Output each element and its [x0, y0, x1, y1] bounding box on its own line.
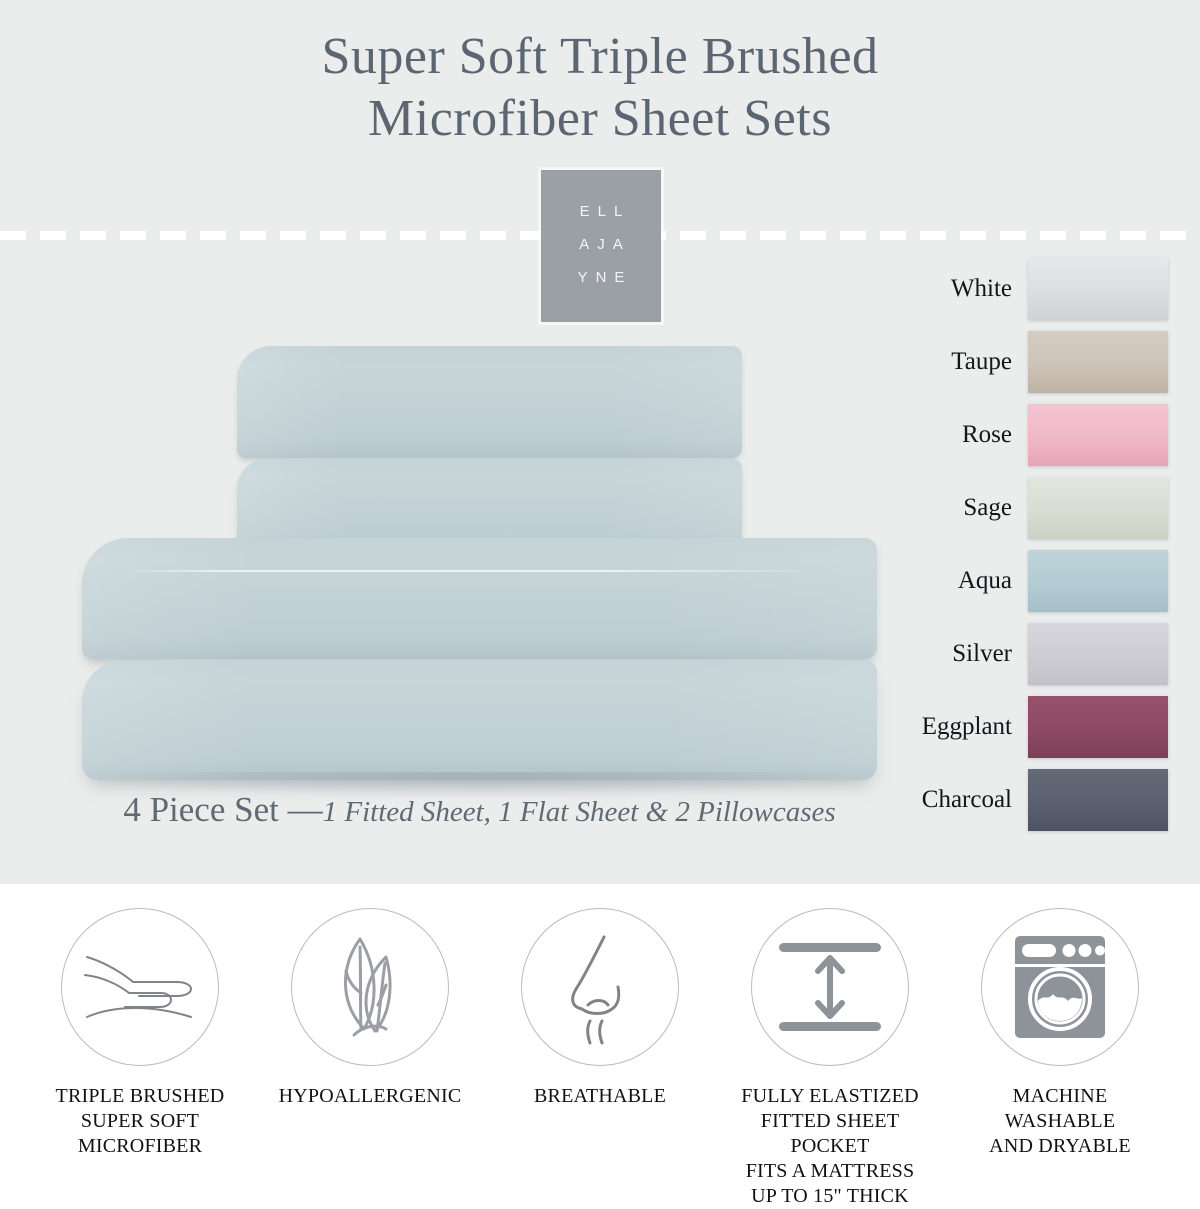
swatch-label: Charcoal — [922, 769, 1012, 831]
feature-strip: TRIPLE BRUSHEDSUPER SOFTMICROFIBER HYP — [0, 884, 1200, 1200]
swatch-row-taupe[interactable]: Taupe — [900, 331, 1200, 404]
swatch-label: Sage — [963, 477, 1012, 539]
swatch-label: Silver — [952, 623, 1012, 685]
fitted-sheet — [82, 660, 877, 780]
swatch-chip-sage[interactable] — [1028, 477, 1168, 539]
swatch-label: Aqua — [958, 550, 1012, 612]
swatch-row-white[interactable]: White — [900, 258, 1200, 331]
feature-icon-circle — [291, 908, 449, 1066]
swatch-label: White — [951, 258, 1012, 320]
feature-label: MACHINEWASHABLEAND DRYABLE — [954, 1084, 1166, 1159]
vertical-arrow-icon — [775, 937, 885, 1037]
swatch-chip-rose[interactable] — [1028, 404, 1168, 466]
feature-triple-brushed: TRIPLE BRUSHEDSUPER SOFTMICROFIBER — [34, 908, 246, 1159]
washing-machine-icon — [1007, 932, 1113, 1042]
set-description: 4 Piece Set —1 Fitted Sheet, 1 Flat Shee… — [82, 790, 877, 830]
feature-machine-washable: MACHINEWASHABLEAND DRYABLE — [954, 908, 1166, 1159]
hand-icon — [81, 941, 199, 1033]
swatch-label: Taupe — [951, 331, 1012, 393]
flat-sheet — [82, 538, 877, 659]
swatch-chip-silver[interactable] — [1028, 623, 1168, 685]
product-infographic: Super Soft Triple Brushed Microfiber She… — [0, 0, 1200, 1200]
swatch-chip-eggplant[interactable] — [1028, 696, 1168, 758]
feature-label: TRIPLE BRUSHEDSUPER SOFTMICROFIBER — [34, 1084, 246, 1159]
feature-label: HYPOALLERGENIC — [264, 1084, 476, 1109]
sheet-stack-image — [0, 0, 900, 884]
swatch-label: Rose — [962, 404, 1012, 466]
swatch-label: Eggplant — [922, 696, 1012, 758]
set-label: 4 Piece Set — — [123, 790, 322, 829]
feature-icon-circle — [521, 908, 679, 1066]
feature-elastized-pocket: FULLY ELASTIZEDFITTED SHEET POCKETFITS A… — [724, 908, 936, 1209]
sheet-hem-line — [120, 570, 800, 572]
swatch-chip-charcoal[interactable] — [1028, 769, 1168, 831]
color-swatch-list: White Taupe Rose Sage Aqua Silver — [900, 258, 1200, 842]
feature-label: BREATHABLE — [494, 1084, 706, 1109]
feature-breathable: BREATHABLE — [494, 908, 706, 1109]
nose-icon — [550, 929, 650, 1045]
swatch-chip-aqua[interactable] — [1028, 550, 1168, 612]
swatch-row-sage[interactable]: Sage — [900, 477, 1200, 550]
feature-label: FULLY ELASTIZEDFITTED SHEET POCKETFITS A… — [724, 1084, 936, 1209]
swatch-chip-white[interactable] — [1028, 258, 1168, 320]
swatch-row-aqua[interactable]: Aqua — [900, 550, 1200, 623]
feature-hypoallergenic: HYPOALLERGENIC — [264, 908, 476, 1109]
feature-icon-circle — [751, 908, 909, 1066]
swatch-row-silver[interactable]: Silver — [900, 623, 1200, 696]
feature-icon-circle — [61, 908, 219, 1066]
swatch-row-eggplant[interactable]: Eggplant — [900, 696, 1200, 769]
set-contents: 1 Fitted Sheet, 1 Flat Sheet & 2 Pillowc… — [323, 796, 836, 828]
feature-icon-circle — [981, 908, 1139, 1066]
pillowcase-top — [237, 346, 742, 458]
hero-panel: Super Soft Triple Brushed Microfiber She… — [0, 0, 1200, 884]
swatch-row-charcoal[interactable]: Charcoal — [900, 769, 1200, 842]
leaves-icon — [320, 931, 420, 1043]
swatch-row-rose[interactable]: Rose — [900, 404, 1200, 477]
swatch-chip-taupe[interactable] — [1028, 331, 1168, 393]
